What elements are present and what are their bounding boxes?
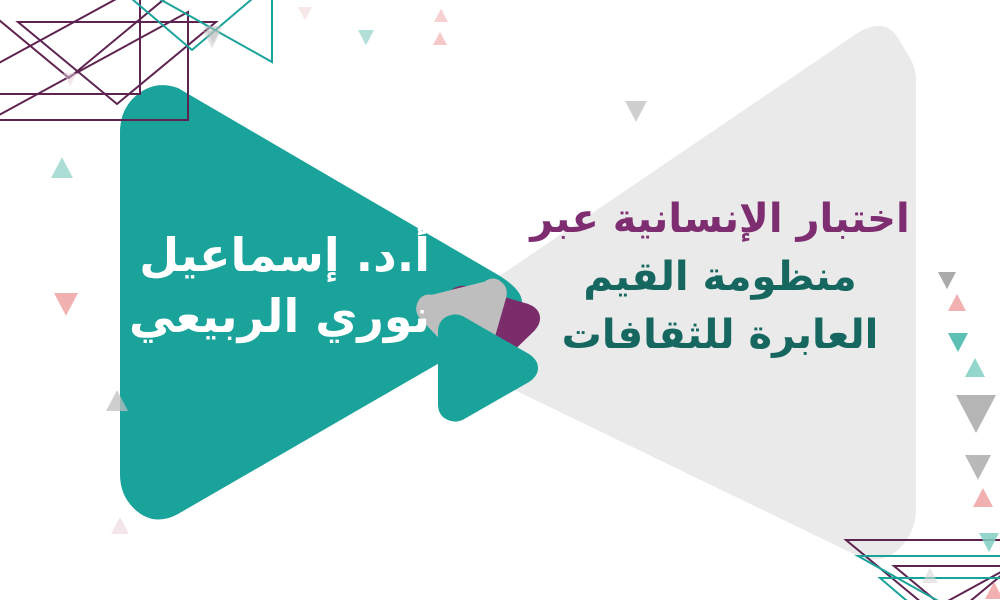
author-name-line-1: أ.د. إسماعيل xyxy=(140,225,430,286)
author-name-line-2: نوري الربيعي xyxy=(140,286,430,347)
author-name-block: أ.د. إسماعيل نوري الربيعي xyxy=(140,225,430,346)
title-line-1: اختبار الإنسانية عبر xyxy=(520,190,920,248)
poster-canvas: أ.د. إسماعيل نوري الربيعي اختبار الإنسان… xyxy=(0,0,1000,600)
title-line-2: منظومة القيم xyxy=(520,248,920,306)
poster-title-block: اختبار الإنسانية عبر منظومة القيم العابر… xyxy=(520,190,920,364)
title-line-3: العابرة للثقافات xyxy=(520,306,920,364)
